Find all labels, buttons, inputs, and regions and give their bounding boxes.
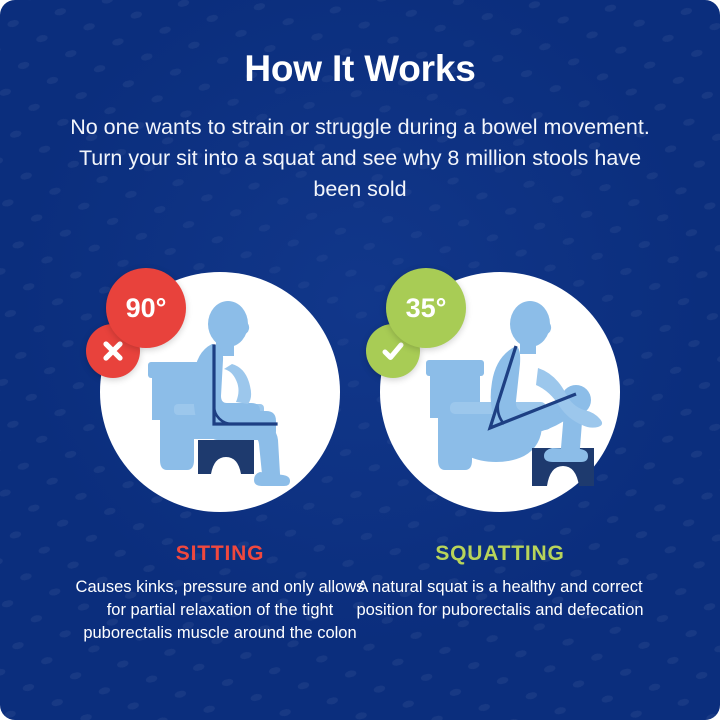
illustration-wrapper-sitting: 90° xyxy=(98,268,342,512)
cross-icon-glyph xyxy=(100,338,126,364)
page-subtitle: No one wants to strain or struggle durin… xyxy=(60,112,660,205)
caption-title-sitting: SITTING xyxy=(70,542,370,566)
caption-body-sitting: Causes kinks, pressure and only allows f… xyxy=(75,576,365,645)
infographic-card: How It Works No one wants to strain or s… xyxy=(0,0,720,720)
angle-badge-squatting: 35° xyxy=(386,268,466,348)
angle-badge-sitting-value: 90° xyxy=(126,293,167,324)
angle-badge-sitting: 90° xyxy=(106,268,186,348)
illustration-wrapper-squatting: 35° xyxy=(378,268,622,512)
angle-badge-squatting-value: 35° xyxy=(406,293,447,324)
panel-sitting: 90° SITTING Causes kinks, pressure and o… xyxy=(70,268,370,512)
panel-squatting: 35° SQUATTING A natural squat is a healt… xyxy=(350,268,650,512)
caption-body-squatting: A natural squat is a healthy and correct… xyxy=(355,576,645,622)
caption-title-squatting: SQUATTING xyxy=(350,542,650,566)
page-title: How It Works xyxy=(0,48,720,90)
